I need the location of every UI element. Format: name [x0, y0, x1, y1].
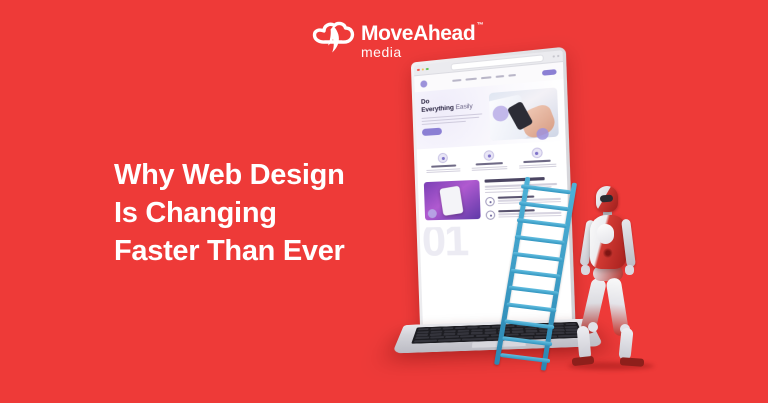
robot-hand-front — [625, 265, 634, 275]
feature-title — [523, 160, 551, 163]
window-close-dot — [417, 69, 420, 72]
feature-item — [468, 149, 511, 172]
hero-title: Do Everything Easily — [421, 93, 486, 115]
bullet-icon — [485, 197, 495, 207]
robot-visor — [600, 195, 613, 203]
logo-subtitle: media — [361, 45, 475, 59]
brand-logo[interactable]: MoveAhead ™ media — [311, 20, 475, 60]
site-cta-button[interactable] — [542, 69, 557, 76]
logo-name: MoveAhead ™ — [361, 23, 475, 44]
robot-core-light — [603, 248, 613, 258]
site-logo-icon — [420, 80, 427, 88]
trademark-symbol: ™ — [477, 22, 484, 29]
decorative-circle — [428, 209, 437, 218]
feature-item — [515, 146, 560, 170]
text-line — [519, 166, 557, 169]
feature-title — [476, 162, 502, 165]
nav-link[interactable] — [452, 79, 461, 82]
section-number: 01 — [421, 225, 468, 264]
decorative-circle — [536, 128, 549, 140]
nav-link[interactable] — [508, 74, 516, 77]
window-minimize-dot — [421, 68, 424, 71]
cloud-arrow-icon — [311, 20, 355, 60]
robot-shin-front — [618, 327, 633, 360]
page-title: Why Web Design Is Changing Faster Than E… — [114, 156, 345, 270]
robot-head — [596, 186, 618, 212]
feature-icon — [531, 147, 542, 158]
ladder-rung — [504, 319, 554, 329]
logo-name-text: MoveAhead — [361, 22, 475, 45]
nav-link[interactable] — [465, 78, 476, 81]
ladder-rung — [513, 252, 563, 262]
bullet-icon — [486, 210, 496, 220]
ladder-rung — [515, 235, 565, 245]
robot-knee-back — [588, 322, 598, 332]
browser-action-dot — [553, 55, 555, 57]
ladder-rung — [511, 269, 561, 279]
site-nav-links[interactable] — [452, 74, 516, 82]
nav-link[interactable] — [495, 75, 504, 78]
hero-section: Do Everything Easily — [415, 79, 566, 149]
hero-title-bold: Do Everything — [421, 98, 454, 114]
ladder-rung — [502, 336, 552, 346]
nav-link[interactable] — [480, 76, 491, 79]
robot-foot-front — [620, 357, 644, 367]
hero-copy: Do Everything Easily — [421, 93, 490, 145]
promo-banner: MoveAhead ™ media Why Web Design Is Chan… — [0, 0, 768, 403]
browser-action-dot — [557, 55, 559, 57]
section-phone-mockup — [439, 186, 463, 216]
ladder-rung — [508, 286, 558, 296]
ladder-rung — [506, 302, 556, 312]
section-image — [424, 180, 481, 221]
text-line — [472, 168, 508, 171]
hero-cta-button[interactable] — [422, 128, 442, 136]
window-maximize-dot — [426, 68, 429, 71]
robot-chest-plate — [597, 224, 614, 244]
feature-icon — [438, 153, 448, 164]
robot-hand-back — [581, 265, 590, 275]
hero-body-text — [422, 113, 487, 125]
feature-item — [423, 152, 464, 175]
feature-icon — [484, 150, 495, 161]
ladder-rung — [517, 218, 567, 228]
browser-actions — [553, 55, 560, 58]
text-line — [427, 170, 461, 173]
ladder-rung — [519, 201, 569, 211]
hero-media — [488, 87, 558, 141]
feature-title — [431, 164, 456, 167]
robot-illustration — [566, 186, 658, 368]
hero-title-light: Easily — [455, 103, 472, 112]
